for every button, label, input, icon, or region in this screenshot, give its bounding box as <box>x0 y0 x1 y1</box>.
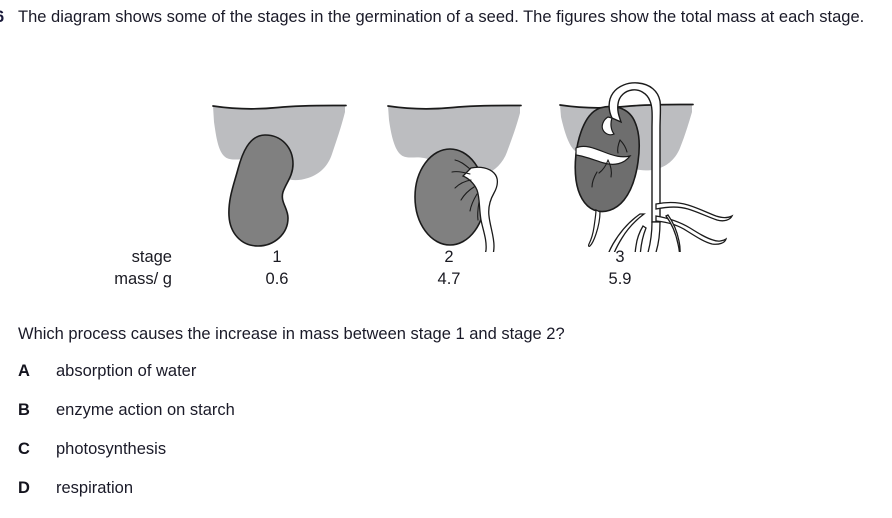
answer-options: A absorption of water B enzyme action on… <box>0 362 892 518</box>
seed-body-2 <box>415 149 485 245</box>
option-c-letter: C <box>18 440 30 459</box>
question-number: 6 <box>0 8 4 27</box>
option-d[interactable]: D respiration <box>0 479 892 518</box>
option-d-text: respiration <box>56 479 133 498</box>
lateral-roots-3 <box>605 203 732 252</box>
stage-value-1: 1 <box>232 248 322 267</box>
question-text: Which process causes the increase in mas… <box>18 325 565 344</box>
mass-value-2: 4.7 <box>404 270 494 289</box>
option-a-text: absorption of water <box>56 362 196 381</box>
option-b-letter: B <box>18 401 30 420</box>
option-d-letter: D <box>18 479 30 498</box>
option-c-text: photosynthesis <box>56 440 166 459</box>
question-stem: The diagram shows some of the stages in … <box>18 6 884 29</box>
option-b[interactable]: B enzyme action on starch <box>0 401 892 440</box>
stage-value-2: 2 <box>404 248 494 267</box>
small-root-3 <box>589 210 600 246</box>
option-c[interactable]: C photosynthesis <box>0 440 892 479</box>
mass-value-3: 5.9 <box>575 270 665 289</box>
stage-value-3: 3 <box>575 248 665 267</box>
option-b-text: enzyme action on starch <box>56 401 235 420</box>
option-a-letter: A <box>18 362 30 381</box>
row-label-stage: stage <box>52 248 172 267</box>
option-a[interactable]: A absorption of water <box>0 362 892 401</box>
mass-value-1: 0.6 <box>232 270 322 289</box>
diagram-panel-stage-2 <box>388 105 521 252</box>
diagram-panel-stage-3 <box>560 83 732 252</box>
stage-mass-table: stage 1 2 3 mass/ g 0.6 4.7 5.9 <box>0 248 892 296</box>
row-label-mass: mass/ g <box>52 270 172 289</box>
diagram-panel-stage-1 <box>213 105 346 246</box>
table-row-stage: stage 1 2 3 <box>0 248 892 270</box>
table-row-mass: mass/ g 0.6 4.7 5.9 <box>0 270 892 292</box>
germination-diagram <box>0 56 892 252</box>
